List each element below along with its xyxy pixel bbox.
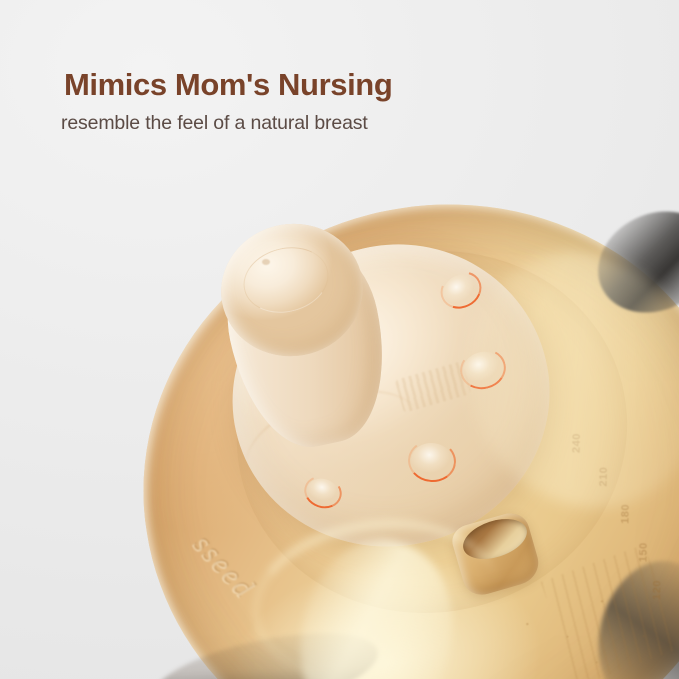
graduation-label: 180 [619, 504, 631, 524]
copy-block: Mimics Mom's Nursing resemble the feel o… [64, 66, 392, 135]
page-title: Mimics Mom's Nursing [64, 66, 392, 104]
page-subtitle: resemble the feel of a natural breast [61, 111, 392, 135]
nipple-vent-bump [409, 441, 455, 481]
nipple-tip-pore [262, 259, 270, 265]
product-feature-banner: Mimics Mom's Nursing resemble the feel o… [0, 0, 679, 679]
